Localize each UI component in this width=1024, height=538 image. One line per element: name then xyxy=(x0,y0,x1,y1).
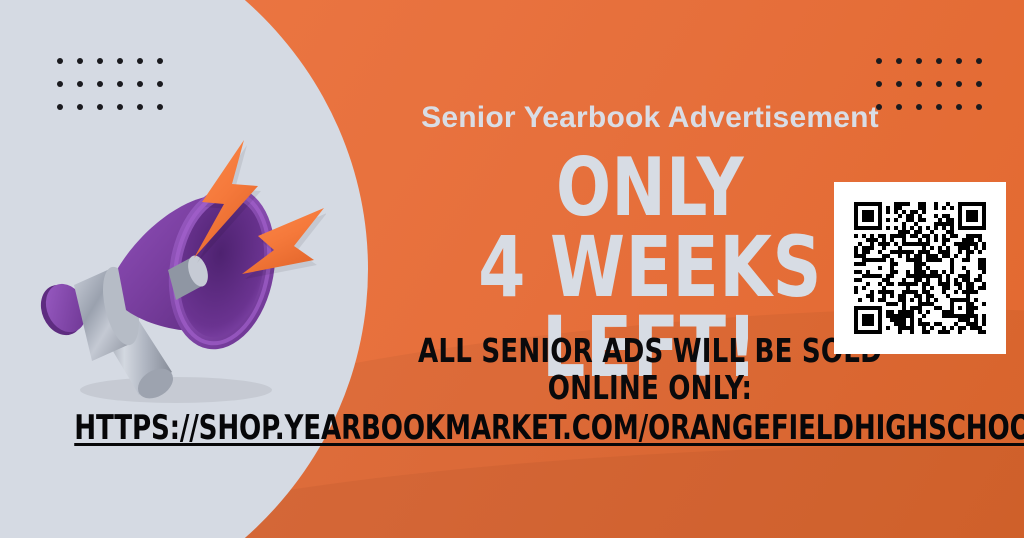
decorative-dot xyxy=(97,58,103,64)
decorative-dot xyxy=(57,81,63,87)
decorative-dot xyxy=(137,81,143,87)
decorative-dot xyxy=(976,58,982,64)
decorative-dot xyxy=(916,58,922,64)
decorative-dot xyxy=(57,58,63,64)
qr-code-card[interactable] xyxy=(834,182,1006,354)
decorative-dot xyxy=(117,58,123,64)
decorative-dot xyxy=(936,58,942,64)
decorative-dot xyxy=(137,104,143,110)
decorative-dot xyxy=(956,58,962,64)
decorative-dot xyxy=(117,104,123,110)
decorative-dot xyxy=(936,81,942,87)
store-url-text[interactable]: HTTPS://SHOP.YEARBOOKMARKET.COM/ORANGEFI… xyxy=(74,408,1024,448)
eyebrow-heading: Senior Yearbook Advertisement xyxy=(330,101,970,134)
decorative-dot xyxy=(896,58,902,64)
store-url-line[interactable]: HTTPS://SHOP.YEARBOOKMARKET.COM/ORANGEFI… xyxy=(74,411,950,447)
decorative-dot xyxy=(157,58,163,64)
decorative-dot xyxy=(157,104,163,110)
decorative-dot xyxy=(77,104,83,110)
megaphone-illustration xyxy=(26,118,326,418)
decorative-dot xyxy=(137,58,143,64)
decorative-dot xyxy=(97,104,103,110)
decorative-dot xyxy=(976,81,982,87)
qr-code-image[interactable] xyxy=(854,202,986,334)
decorative-dot xyxy=(117,81,123,87)
decorative-dot xyxy=(157,81,163,87)
decorative-dot xyxy=(57,104,63,110)
decorative-dot xyxy=(77,58,83,64)
decorative-dot xyxy=(97,81,103,87)
decorative-dot xyxy=(77,81,83,87)
decorative-dot xyxy=(876,58,882,64)
decorative-dot xyxy=(916,81,922,87)
decorative-dot xyxy=(976,104,982,110)
decorative-dot xyxy=(956,81,962,87)
subcopy-line-2: ONLINE ONLY: xyxy=(368,370,931,407)
decorative-dot xyxy=(896,81,902,87)
dot-grid-left xyxy=(57,58,177,127)
poster-canvas: Senior Yearbook Advertisement ONLY 4 WEE… xyxy=(0,0,1024,538)
decorative-dot xyxy=(876,81,882,87)
